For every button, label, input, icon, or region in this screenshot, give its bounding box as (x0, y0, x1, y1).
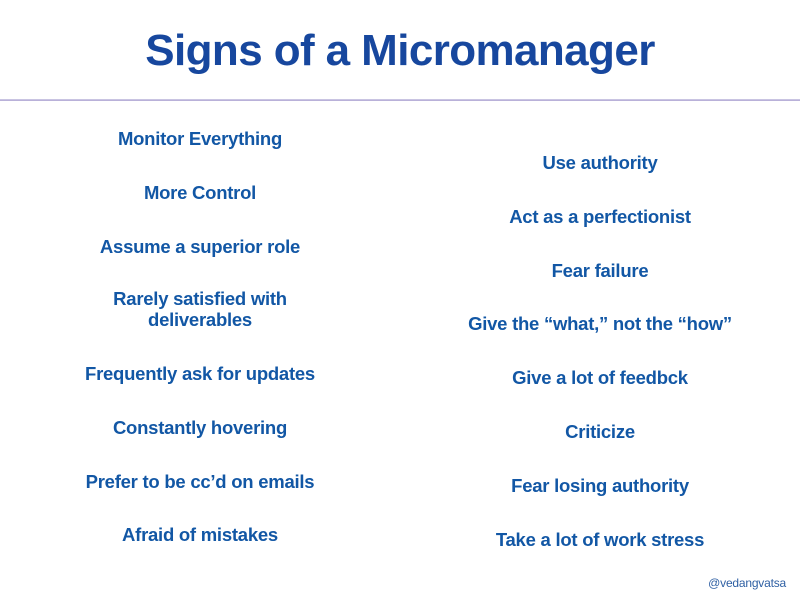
signs-column-right: Use authority Act as a perfectionist Fea… (400, 118, 800, 538)
list-item: Act as a perfectionist (509, 206, 691, 228)
list-item: Monitor Everything (118, 128, 282, 150)
list-item: Constantly hovering (113, 417, 287, 439)
list-item: Assume a superior role (100, 236, 300, 258)
title-divider (0, 99, 800, 101)
list-item: Criticize (565, 421, 635, 443)
page-title: Signs of a Micromanager (0, 26, 800, 75)
list-item: Prefer to be cc’d on emails (86, 471, 315, 493)
list-item: Take a lot of work stress (496, 529, 704, 551)
list-item: Use authority (543, 152, 658, 174)
signs-column-left: Monitor Everything More Control Assume a… (0, 118, 400, 538)
list-item: Frequently ask for updates (85, 363, 315, 385)
list-item: Rarely satisfied with deliverables (95, 289, 305, 330)
list-item: Afraid of mistakes (122, 524, 278, 546)
list-item: Fear losing authority (511, 475, 689, 497)
list-item: More Control (144, 182, 256, 204)
list-item: Fear failure (552, 260, 649, 282)
list-item: Give a lot of feedbck (512, 367, 688, 389)
signs-columns: Monitor Everything More Control Assume a… (0, 118, 800, 538)
slide-canvas: Signs of a Micromanager Monitor Everythi… (0, 0, 800, 600)
list-item: Give the “what,” not the “how” (468, 313, 732, 335)
author-watermark: @vedangvatsa (708, 576, 786, 590)
title-area: Signs of a Micromanager (0, 26, 800, 75)
